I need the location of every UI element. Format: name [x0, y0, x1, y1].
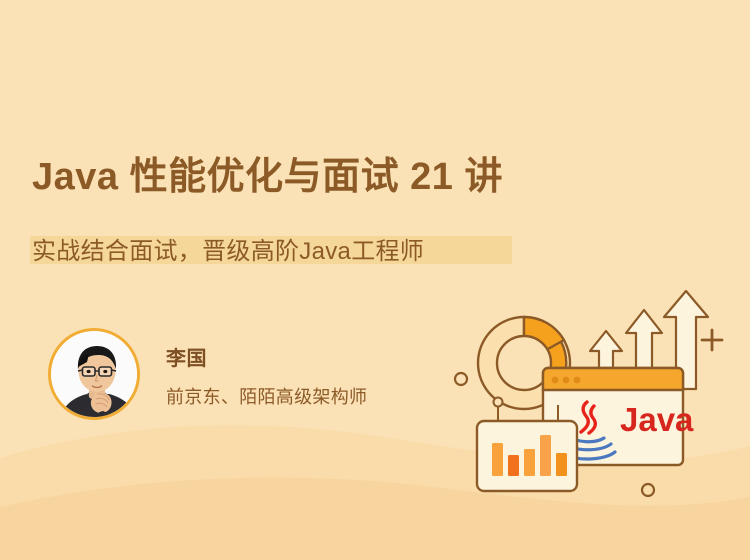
course-cover-poster: Java 性能优化与面试 21 讲 实战结合面试，晋级高阶Java工程师	[0, 0, 750, 560]
author-name: 李国	[166, 342, 367, 371]
course-illustration: Java	[440, 285, 750, 530]
author-block: 李国 前京东、陌陌高级架构师	[48, 328, 367, 420]
avatar	[48, 328, 140, 420]
window-dot-2	[563, 377, 570, 384]
avatar-portrait-illustration	[51, 331, 137, 417]
avatar-photo	[51, 331, 137, 417]
page-title: Java 性能优化与面试 21 讲	[32, 145, 503, 200]
bar-5	[556, 453, 567, 476]
bar-4	[540, 435, 551, 476]
subtitle-block: 实战结合面试，晋级高阶Java工程师	[30, 226, 424, 270]
bar-3	[524, 449, 535, 476]
deco-plus-icon	[702, 330, 722, 350]
bar-1	[492, 443, 503, 476]
deco-circle-bottom	[642, 484, 654, 496]
window-dot-3	[574, 377, 581, 384]
author-role: 前京东、陌陌高级架构师	[166, 383, 367, 409]
window-dot-1	[552, 377, 559, 384]
author-info: 李国 前京东、陌陌高级架构师	[166, 340, 367, 409]
page-subtitle: 实战结合面试，晋级高阶Java工程师	[30, 231, 424, 266]
deco-circle-left	[455, 373, 467, 385]
bar-2	[508, 455, 519, 476]
java-logo-text: Java	[620, 401, 694, 438]
